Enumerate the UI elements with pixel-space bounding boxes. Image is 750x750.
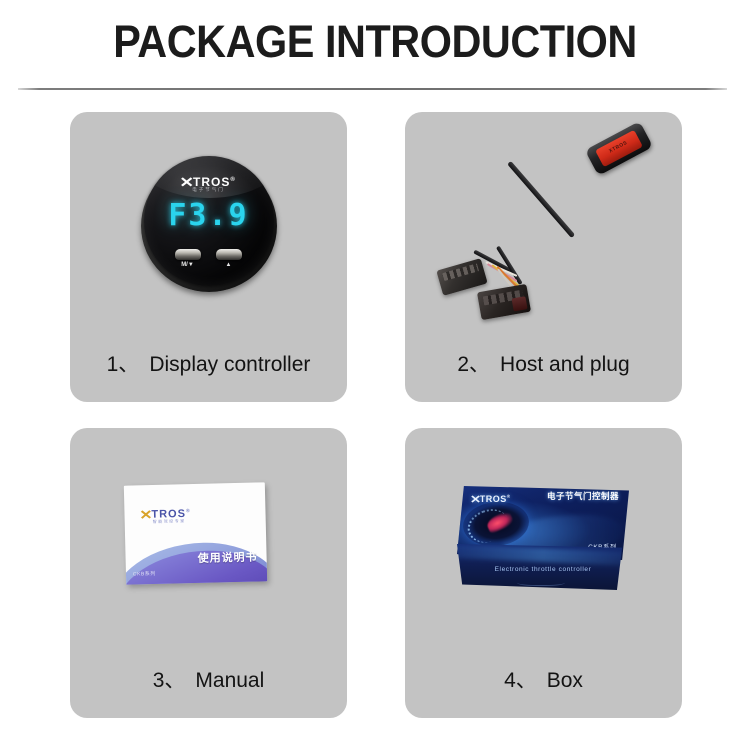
display-controller-image: ✕TROS® 电子节气门 F3.9 M/▼ ▲: [70, 112, 347, 340]
page-title: PACKAGE INTRODUCTION: [30, 16, 720, 68]
controller-up-button[interactable]: [216, 249, 242, 260]
controller-led-readout: F3.9: [144, 200, 274, 232]
package-item-display-controller[interactable]: ✕TROS® 电子节气门 F3.9 M/▼ ▲ 1、Display contro…: [70, 112, 347, 402]
product-box: ✕TROS® 电子节气门控制器 CKB系列 Electronic throttl…: [457, 486, 629, 590]
package-item-number: 3、: [153, 669, 186, 692]
controller-mode-button-label: M/▼: [171, 262, 205, 269]
package-item-caption: 4、Box: [405, 664, 682, 694]
manual-image: ✕TROS® 智能驾控专家 使用说明书 CKB系列: [70, 428, 347, 656]
box-dial-ticks: [463, 504, 513, 548]
registered-mark-icon: ®: [507, 494, 511, 499]
manual-booklet: ✕TROS® 智能驾控专家 使用说明书 CKB系列: [124, 482, 267, 584]
controller-device: ✕TROS® 电子节气门 F3.9 M/▼ ▲: [141, 156, 277, 292]
package-item-host-and-plug[interactable]: XTROS 2、Host and plug: [405, 112, 682, 402]
plug-connector-b-latch: [512, 296, 528, 311]
registered-mark-icon: ®: [230, 177, 235, 183]
controller-face: ✕TROS® 电子节气门 F3.9 M/▼ ▲: [144, 156, 274, 286]
package-item-number: 1、: [107, 353, 140, 376]
controller-brand-logo: ✕TROS®: [144, 174, 274, 188]
package-item-manual[interactable]: ✕TROS® 智能驾控专家 使用说明书 CKB系列 3、Manual: [70, 428, 347, 718]
controller-brand-subtext: 电子节气门: [144, 187, 274, 193]
box-front-seam: [517, 578, 565, 586]
box-title-en: Electronic throttle controller: [457, 566, 629, 574]
controller-mode-button[interactable]: [175, 249, 201, 260]
manual-series-code: CKB系列: [133, 571, 156, 578]
host-module: XTROS: [585, 121, 653, 176]
package-item-caption: 3、Manual: [70, 664, 347, 694]
package-item-number: 4、: [504, 669, 537, 692]
package-items-grid: ✕TROS® 电子节气门 F3.9 M/▼ ▲ 1、Display contro…: [0, 112, 750, 724]
box-image: ✕TROS® 电子节气门控制器 CKB系列 Electronic throttl…: [405, 428, 682, 656]
box-brand-logo: ✕TROS®: [471, 492, 511, 504]
package-item-label: Manual: [195, 669, 264, 692]
box-brand-text: TROS: [480, 494, 507, 504]
package-item-label: Box: [547, 669, 583, 692]
manual-title-cn: 使用说明书: [197, 551, 257, 564]
box-front-streak: [457, 544, 629, 566]
title-divider: [18, 88, 727, 90]
package-item-number: 2、: [457, 353, 490, 376]
package-item-label: Host and plug: [500, 353, 630, 376]
plug-connector-a-pins: [442, 263, 479, 281]
plug-connector-a: [436, 258, 487, 296]
page-header: PACKAGE INTRODUCTION: [0, 0, 750, 92]
host-module-brand-mark: XTROS: [597, 134, 639, 160]
host-and-plug-image: XTROS: [405, 112, 682, 340]
package-item-label: Display controller: [149, 353, 310, 376]
host-cable: [507, 161, 575, 238]
registered-mark-icon: ®: [186, 508, 191, 514]
plug-connector-b: [477, 284, 531, 320]
x-star-icon: ✕: [139, 509, 154, 520]
x-star-icon: ✕: [470, 496, 482, 505]
package-item-box[interactable]: ✕TROS® 电子节气门控制器 CKB系列 Electronic throttl…: [405, 428, 682, 718]
manual-brand-subtext: 智能驾控专家: [153, 518, 186, 524]
package-item-caption: 1、Display controller: [70, 348, 347, 378]
controller-up-button-label: ▲: [212, 262, 246, 269]
package-item-caption: 2、Host and plug: [405, 348, 682, 378]
host-module-red-label: XTROS: [595, 130, 643, 167]
box-title-cn: 电子节气门控制器: [547, 491, 619, 501]
